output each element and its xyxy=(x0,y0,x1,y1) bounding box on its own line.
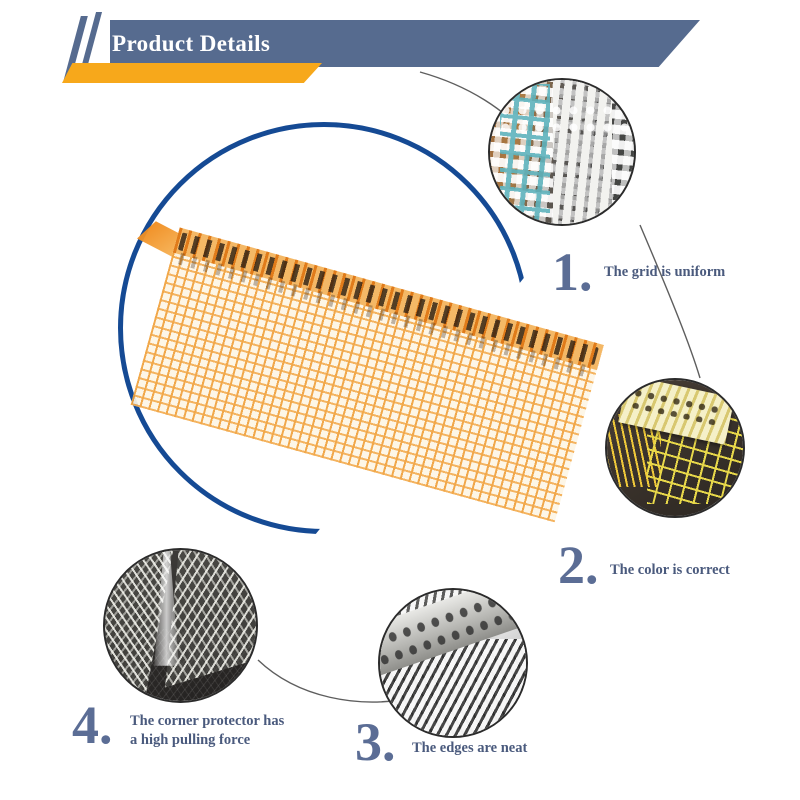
product-mesh-panel xyxy=(131,222,606,523)
page-title: Product Details xyxy=(112,27,532,61)
header-accent-bar xyxy=(62,63,322,83)
white-mesh-corner-protector-photo xyxy=(103,548,258,703)
detail-caption-1: The grid is uniform xyxy=(604,263,779,282)
detail-number-3: 3. xyxy=(355,715,396,769)
detail-caption-4: The corner protector has a high pulling … xyxy=(130,712,330,750)
detail-caption-3: The edges are neat xyxy=(412,739,592,758)
detail-photo-4 xyxy=(103,548,258,703)
perforated-metal-bead-photo xyxy=(378,588,528,738)
mesh-grid-closeup-photo xyxy=(488,78,636,226)
photo-white-bead-layer xyxy=(553,78,612,226)
photo-hole-row xyxy=(497,102,630,140)
connector-circle-1-to-circle-2 xyxy=(640,225,700,378)
detail-photo-3 xyxy=(378,588,528,738)
detail-number-4: 4. xyxy=(72,698,113,752)
detail-photo-1 xyxy=(488,78,636,226)
detail-caption-2: The color is correct xyxy=(610,561,785,580)
detail-photo-2 xyxy=(605,378,745,518)
detail-number-2: 2. xyxy=(558,538,599,592)
yellow-corner-bead-photo xyxy=(605,378,745,518)
detail-number-1: 1. xyxy=(552,245,593,299)
product-details-infographic: Product Details 1. The grid is uniform xyxy=(0,0,800,800)
